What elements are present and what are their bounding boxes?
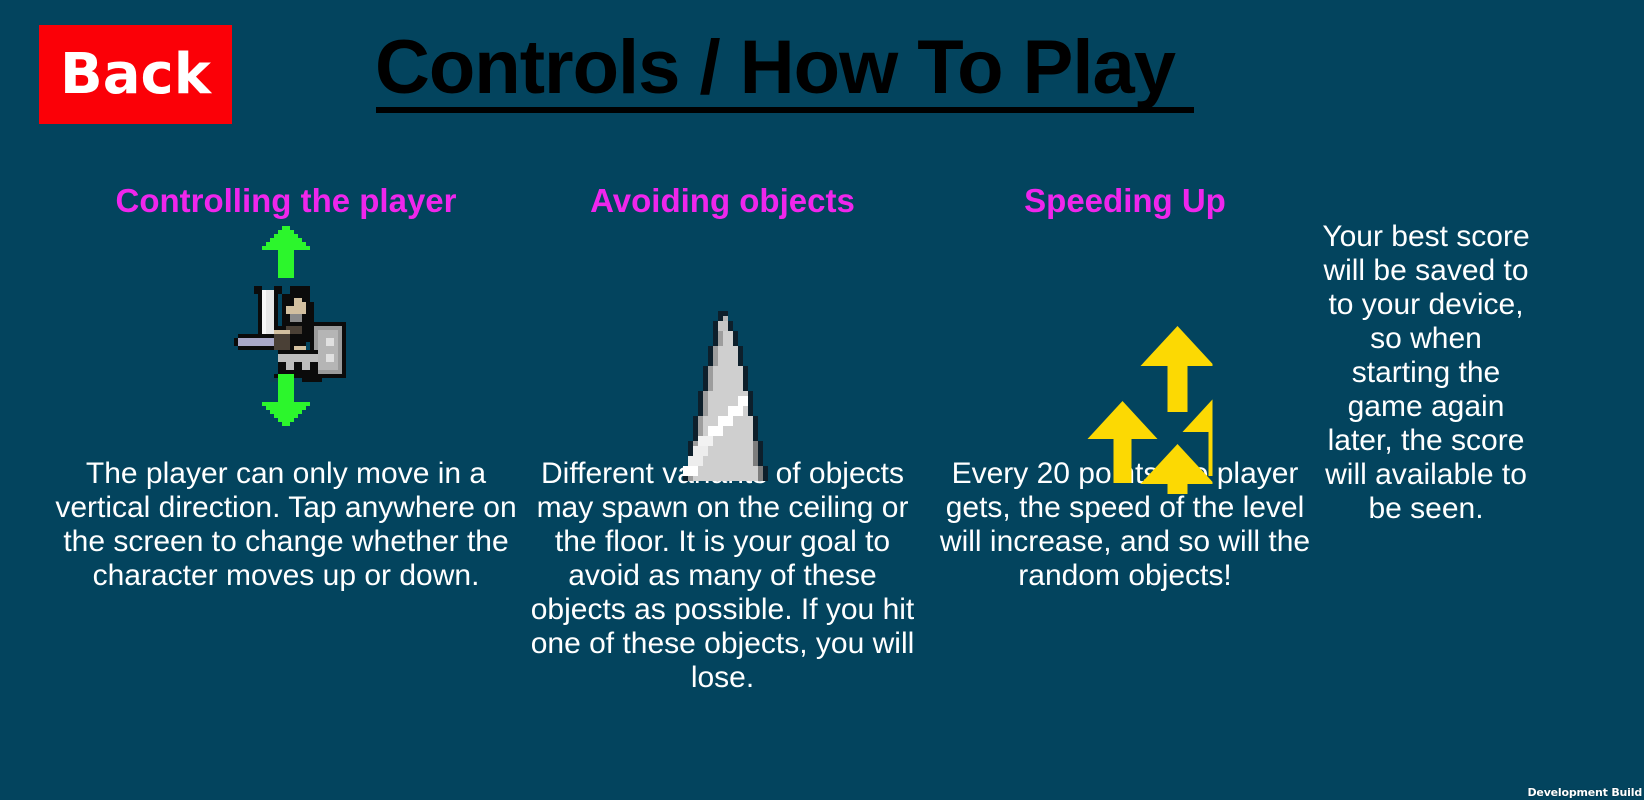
knight-sprite-body: [234, 286, 346, 382]
spike-obstacle-icon: [678, 310, 768, 482]
column-art: [930, 222, 1320, 457]
column-art: [36, 222, 536, 457]
yellow-up-arrow-icon: [1088, 401, 1158, 483]
game-screen: Back Controls / How To Play Controlling …: [0, 0, 1644, 800]
page-title-underline: [376, 107, 1194, 113]
best-score-note: Your best score will be saved to to your…: [1322, 220, 1530, 526]
speed-arrows-group-icon: [1038, 304, 1213, 494]
help-column-speeding-up: Speeding Up: [930, 180, 1320, 593]
column-heading: Avoiding objects: [525, 180, 920, 222]
back-button[interactable]: Back: [39, 25, 232, 124]
page-title: Controls / How To Play: [375, 24, 1175, 111]
green-up-arrow-icon: [262, 226, 310, 278]
column-art: [525, 222, 920, 457]
back-button-label: Back: [60, 47, 211, 103]
development-build-watermark: Development Build: [1528, 786, 1643, 799]
help-column-avoiding-objects: Avoiding objects: [525, 180, 920, 695]
column-heading: Controlling the player: [36, 180, 536, 222]
yellow-up-arrow-icon: [1141, 444, 1213, 494]
yellow-up-arrow-icon: [1141, 326, 1213, 412]
help-column-controlling-the-player: Controlling the player: [36, 180, 536, 593]
column-body-text: The player can only move in a vertical d…: [36, 457, 536, 593]
column-heading: Speeding Up: [930, 180, 1320, 222]
knight-player-icon: [222, 222, 350, 430]
column-body-text: Different variants of objects may spawn …: [525, 457, 920, 695]
